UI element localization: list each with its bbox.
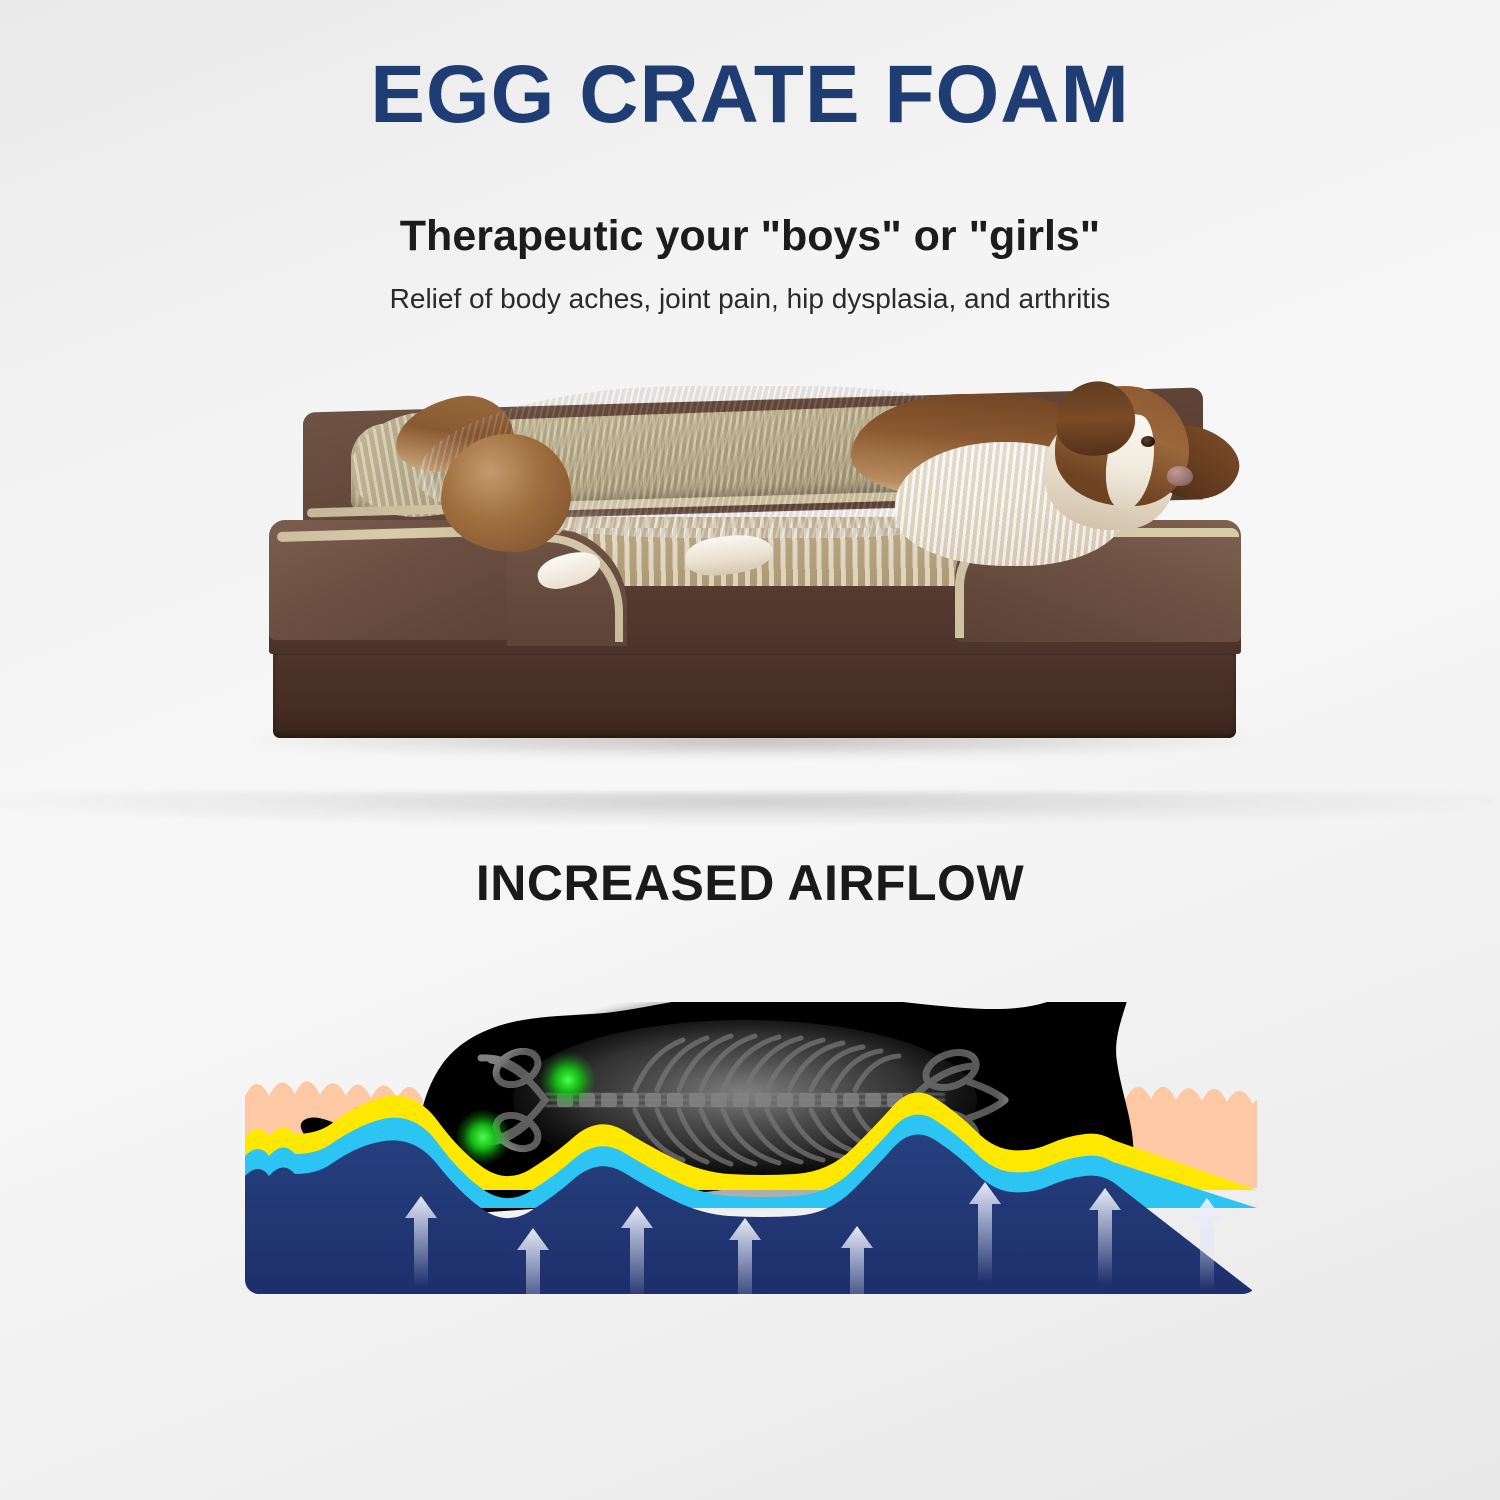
dog-front-paw	[683, 531, 775, 579]
dog-haunch	[441, 434, 571, 552]
diagram-clip-group	[245, 961, 1257, 1294]
pressure-point	[540, 1052, 596, 1108]
increased-airflow-section: INCREASED AIRFLOW	[0, 826, 1500, 1500]
egg-crate-foam-section: EGG CRATE FOAM Therapeutic your "boys" o…	[0, 0, 1500, 800]
product-photo-dog-bed	[255, 378, 1255, 768]
dog-nose	[1167, 466, 1193, 486]
page-title: EGG CRATE FOAM	[0, 52, 1500, 138]
dog-eye	[1141, 436, 1155, 447]
section-subtitle: Therapeutic your "boys" or "girls"	[0, 212, 1500, 261]
section-divider	[0, 792, 1500, 826]
dog-photo	[255, 378, 1255, 768]
airflow-cutaway-diagram	[245, 950, 1257, 1294]
airflow-title: INCREASED AIRFLOW	[0, 854, 1500, 912]
section-caption: Relief of body aches, joint pain, hip dy…	[0, 283, 1500, 315]
